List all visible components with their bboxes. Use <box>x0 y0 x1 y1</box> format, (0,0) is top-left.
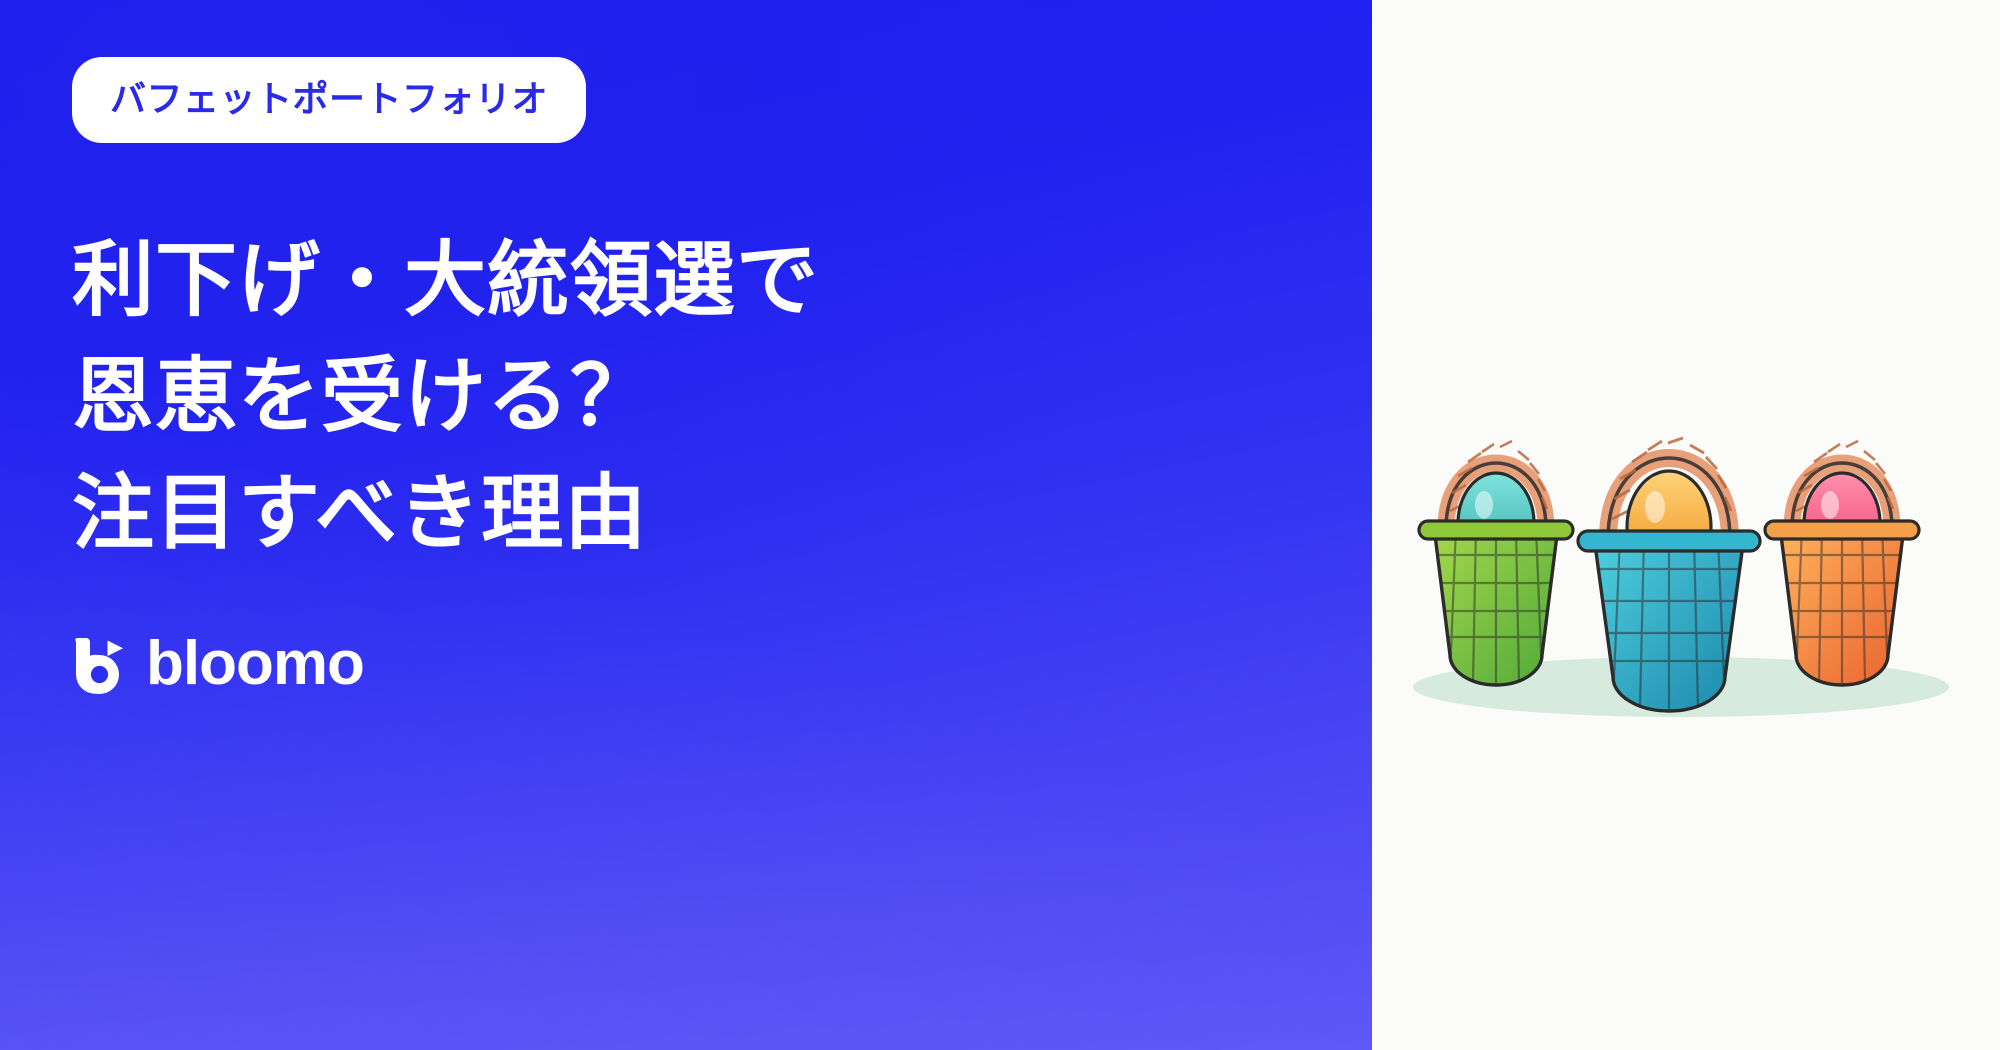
social-share-card: バフェットポートフォリオ 利下げ・大統領選で 恩恵を受ける？ 注目すべき理由 b… <box>0 0 2000 1050</box>
headline-line-1: 利下げ・大統領選で <box>72 223 1372 339</box>
right-illustration-panel <box>1372 0 2000 1050</box>
headline-line-2: 恩恵を受ける？ <box>72 339 1372 455</box>
page-title: 利下げ・大統領選で 恩恵を受ける？ 注目すべき理由 <box>72 223 1372 572</box>
category-badge: バフェットポートフォリオ <box>72 57 586 143</box>
left-inner-wrapper: バフェットポートフォリオ 利下げ・大統領選で 恩恵を受ける？ 注目すべき理由 b… <box>0 0 1372 1050</box>
three-easter-baskets-with-eggs-icon <box>1376 315 1996 735</box>
left-content-panel: バフェットポートフォリオ 利下げ・大統領選で 恩恵を受ける？ 注目すべき理由 b… <box>0 0 1372 1050</box>
bloomo-wordmark: bloomo <box>146 633 364 695</box>
headline-line-3: 注目すべき理由 <box>72 456 1372 572</box>
bloomo-logo: bloomo <box>72 633 364 695</box>
bloomo-b-mark-icon <box>72 634 128 694</box>
